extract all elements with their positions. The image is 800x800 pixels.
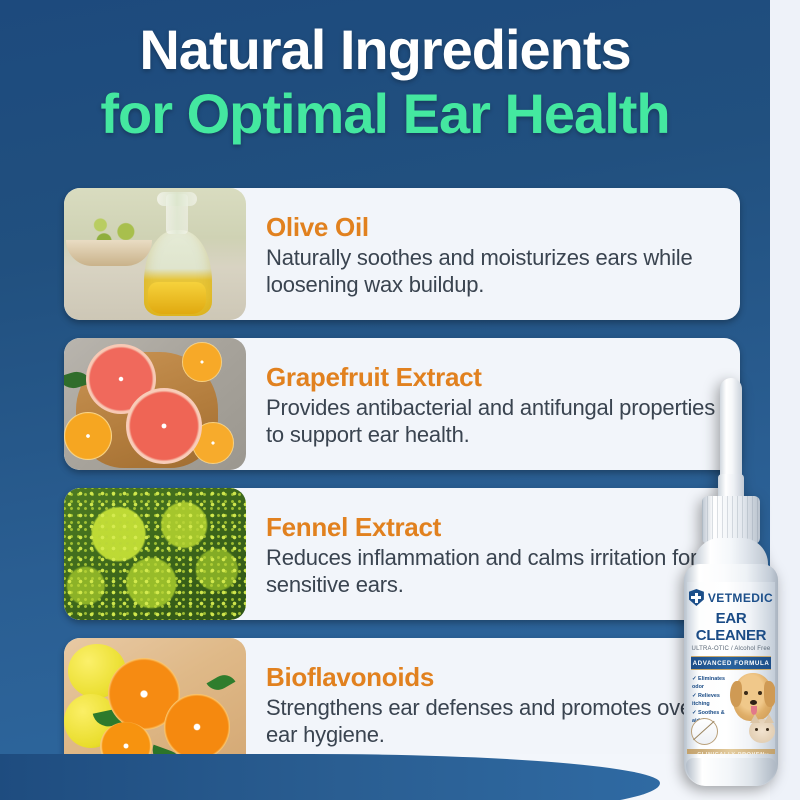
no-alcohol-icon [691, 718, 718, 745]
product-bottle[interactable]: VETMEDIC EAR CLEANER ULTRA-OTIC / Alcoho… [672, 378, 790, 790]
ingredient-description: Naturally soothes and moisturizes ears w… [266, 245, 726, 299]
product-subtitle: ULTRA-OTIC / Alcohol Free [687, 646, 775, 652]
label-middle: ✓ Eliminates odor ✓ Relieves itching ✓ S… [687, 673, 775, 749]
ingredient-card-olive-oil[interactable]: Olive Oil Naturally soothes and moisturi… [64, 188, 740, 320]
ingredient-title: Bioflavonoids [266, 663, 726, 692]
bottle-label: VETMEDIC EAR CLEANER ULTRA-OTIC / Alcoho… [687, 582, 775, 754]
bottle-cap [702, 496, 760, 544]
headline-line-1: Natural Ingredients [0, 22, 770, 78]
olive-oil-image [64, 188, 246, 320]
ingredient-description: Provides antibacterial and antifungal pr… [266, 395, 726, 449]
advanced-formula-banner: ADVANCED FORMULA [691, 656, 771, 670]
page-title: Natural Ingredients for Optimal Ear Heal… [0, 22, 770, 142]
ingredient-title: Olive Oil [266, 213, 726, 242]
brand-name: VETMEDIC [708, 591, 773, 605]
ingredient-description: Reduces inflammation and calms irritatio… [266, 545, 726, 599]
ingredient-card-fennel-extract[interactable]: Fennel Extract Reduces inflammation and … [64, 488, 740, 620]
bioflavonoids-text: Bioflavonoids Strengthens ear defenses a… [246, 638, 740, 770]
bottom-strip [0, 754, 770, 800]
grapefruit-image [64, 338, 246, 470]
headline-line-2: for Optimal Ear Health [0, 86, 770, 142]
infographic-poster: Natural Ingredients for Optimal Ear Heal… [0, 0, 800, 800]
bottom-swoosh [0, 754, 660, 800]
bioflavonoids-image [64, 638, 246, 770]
brand-lockup: VETMEDIC [687, 589, 775, 606]
ingredient-title: Grapefruit Extract [266, 363, 726, 392]
ingredient-card-bioflavonoids[interactable]: Bioflavonoids Strengthens ear defenses a… [64, 638, 740, 770]
ingredient-card-list: Olive Oil Naturally soothes and moisturi… [64, 188, 740, 788]
olive-oil-text: Olive Oil Naturally soothes and moisturi… [246, 188, 740, 320]
fennel-image [64, 488, 246, 620]
cat-photo [749, 719, 775, 743]
shield-cross-icon [689, 589, 704, 606]
grapefruit-text: Grapefruit Extract Provides antibacteria… [246, 338, 740, 470]
ingredient-title: Fennel Extract [266, 513, 726, 542]
bottle-base [686, 758, 776, 786]
ingredient-card-grapefruit-extract[interactable]: Grapefruit Extract Provides antibacteria… [64, 338, 740, 470]
ingredient-description: Strengthens ear defenses and promotes ov… [266, 695, 726, 749]
product-name: EAR CLEANER [687, 610, 775, 644]
cap-ribs [702, 496, 760, 544]
fennel-text: Fennel Extract Reduces inflammation and … [246, 488, 740, 620]
